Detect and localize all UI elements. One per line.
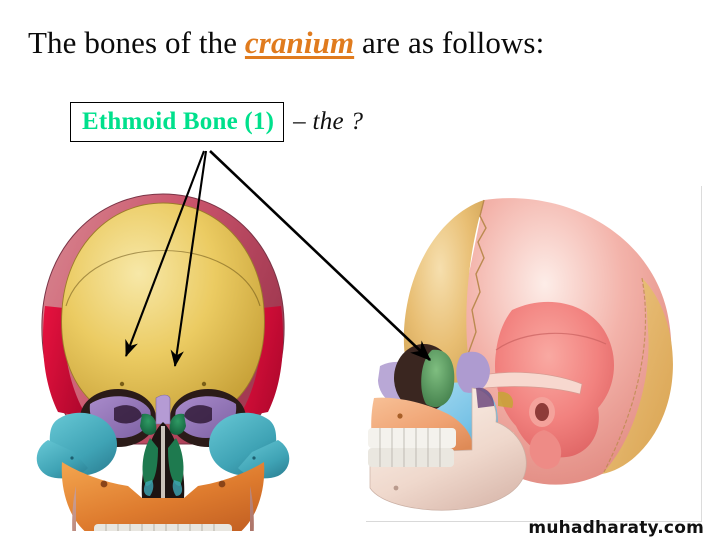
figure-right-rule [701,186,702,522]
upper-teeth-anterior [94,524,232,531]
callout-tail-text: – the ? [293,108,363,136]
zygomatic-foramen-right [252,456,255,459]
infraorbital-foramen-lateral [397,413,402,418]
anterior-skull-illustration [18,186,308,531]
lateral-skull-figure [366,182,702,526]
bone-label-box[interactable]: Ethmoid Bone (1) [70,102,284,142]
infraorbital-foramen-right [219,481,226,488]
supraorbital-notch-right [202,382,206,386]
page-title: The bones of the cranium are as follows: [28,24,544,61]
bone-label-text: Ethmoid Bone (1) [82,108,274,135]
bone-ethmoid-lateral [421,350,454,407]
anterior-skull-figure [18,186,308,531]
bone-frontal-anterior [62,203,265,424]
slide-canvas: The bones of the cranium are as follows:… [0,0,728,546]
title-keyword-cranium: cranium [245,25,354,60]
mental-foramen-lateral [394,486,399,491]
title-suffix: are as follows: [354,25,544,60]
zygomatic-foramen-left [70,456,73,459]
callout-label-row: Ethmoid Bone (1) – the ? [70,102,363,142]
nasal-septum [161,426,165,498]
supraorbital-notch-left [120,382,124,386]
lower-teeth-lateral [368,448,454,467]
external-acoustic-meatus [535,403,549,421]
title-prefix: The bones of the [28,25,245,60]
upper-teeth-lateral [368,428,456,448]
lateral-skull-illustration [366,182,702,526]
infraorbital-foramen-left [101,481,108,488]
bone-nasal-anterior [156,395,170,424]
watermark: muhadharaty.com [528,518,704,538]
